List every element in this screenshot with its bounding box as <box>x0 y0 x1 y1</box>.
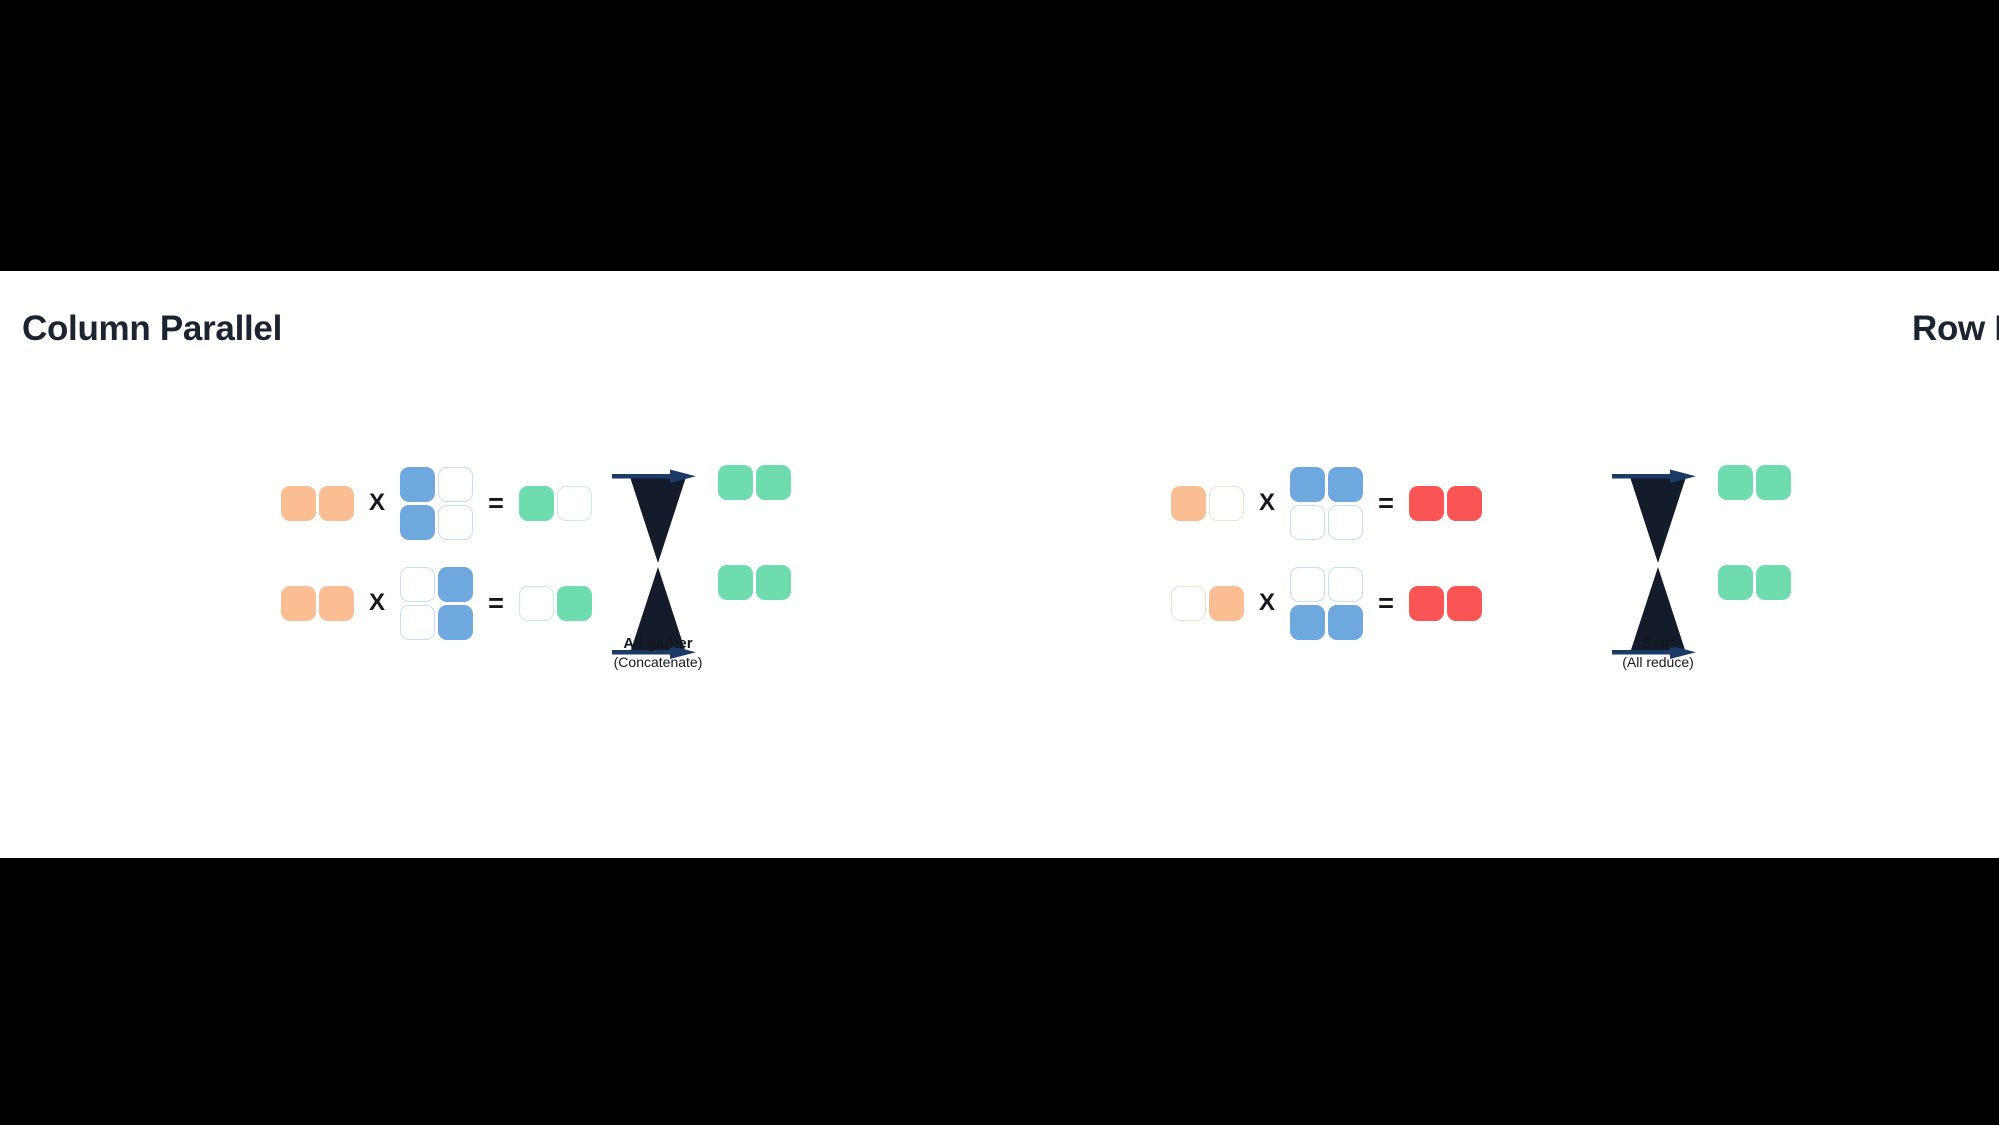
collective-op-sub: (All reduce) <box>1622 654 1694 672</box>
equation-row: X = <box>1171 465 1482 541</box>
matrix-cell <box>1409 486 1444 521</box>
matrix-cell <box>438 467 473 502</box>
result-vector-bottom <box>1718 565 1791 600</box>
result-vector-top <box>1718 465 1791 500</box>
matrix-cell <box>718 465 753 500</box>
matrix-cell <box>1328 467 1363 502</box>
letterbox-bottom-bar <box>0 858 1999 1125</box>
output-vector <box>1409 486 1482 521</box>
matrix-cell <box>1328 605 1363 640</box>
matrix-cell <box>1718 465 1753 500</box>
matrix-cell <box>1328 505 1363 540</box>
matrix-cell <box>319 486 354 521</box>
matrix-cell <box>400 505 435 540</box>
matrix-cell <box>438 605 473 640</box>
matrix-cell <box>756 465 791 500</box>
input-vector <box>281 486 354 521</box>
matrix-cell <box>1718 565 1753 600</box>
equation-row: X = <box>281 565 592 641</box>
multiply-operator: X <box>1244 586 1290 621</box>
matrix-cell <box>1756 465 1791 500</box>
collective-op-name: Sum <box>1622 635 1694 654</box>
equals-operator: = <box>473 586 519 621</box>
matrix-cell <box>281 486 316 521</box>
matrix-cell <box>557 586 592 621</box>
matrix-cell <box>557 486 592 521</box>
collective-op-allgather: All gather (Concatenate) <box>612 463 704 668</box>
matrix-cell <box>1756 565 1791 600</box>
equals-operator: = <box>1363 486 1409 521</box>
matrix-cell <box>718 565 753 600</box>
matrix-cell <box>519 586 554 621</box>
matrix-cell <box>400 567 435 602</box>
panel-row-parallel: Row Parallel X = <box>999 271 1998 858</box>
letterbox-top-bar <box>0 0 1999 271</box>
output-vector <box>519 586 592 621</box>
result-vector-bottom <box>718 565 791 600</box>
matrix-cell <box>400 467 435 502</box>
result-vector <box>718 465 791 500</box>
result-vector-top <box>718 465 791 500</box>
collective-op-label: All gather (Concatenate) <box>614 635 703 671</box>
collective-op-sub: (Concatenate) <box>614 654 703 672</box>
collective-op-name: All gather <box>614 635 703 654</box>
result-vector <box>1718 565 1791 600</box>
equals-operator: = <box>473 486 519 521</box>
output-vector <box>1409 586 1482 621</box>
collective-op-allreduce: Sum (All reduce) <box>1612 463 1704 668</box>
matrix-cell <box>438 567 473 602</box>
result-vector <box>1718 465 1791 500</box>
matrix-cell <box>1171 486 1206 521</box>
weight-matrix <box>1290 567 1363 640</box>
matrix-cell <box>1290 605 1325 640</box>
matrix-cell <box>1447 486 1482 521</box>
equals-operator: = <box>1363 586 1409 621</box>
result-vector <box>718 565 791 600</box>
panel-title-row-parallel: Row Parallel <box>1912 309 1999 349</box>
matrix-cell <box>1209 486 1244 521</box>
multiply-operator: X <box>1244 486 1290 521</box>
matrix-cell <box>400 605 435 640</box>
input-vector <box>1171 486 1244 521</box>
matrix-cell <box>756 565 791 600</box>
equation-row: X = <box>1171 565 1482 641</box>
panel-column-parallel: Column Parallel X = <box>0 271 999 858</box>
matrix-cell <box>1290 467 1325 502</box>
matrix-cell <box>319 586 354 621</box>
slide-content: Column Parallel X = <box>0 271 1999 858</box>
matrix-cell <box>1290 567 1325 602</box>
matrix-cell <box>1409 586 1444 621</box>
weight-matrix <box>1290 467 1363 540</box>
output-vector <box>519 486 592 521</box>
multiply-operator: X <box>354 486 400 521</box>
collective-op-label: Sum (All reduce) <box>1622 635 1694 671</box>
weight-matrix <box>400 467 473 540</box>
panel-title-column-parallel: Column Parallel <box>22 309 282 349</box>
matrix-cell <box>1209 586 1244 621</box>
matrix-cell <box>438 505 473 540</box>
matrix-cell <box>281 586 316 621</box>
input-vector <box>281 586 354 621</box>
multiply-operator: X <box>354 586 400 621</box>
matrix-cell <box>1447 586 1482 621</box>
input-vector <box>1171 586 1244 621</box>
matrix-cell <box>1290 505 1325 540</box>
weight-matrix <box>400 567 473 640</box>
slide-stage: Column Parallel X = <box>0 0 1999 1125</box>
equation-row: X = <box>281 465 592 541</box>
matrix-cell <box>519 486 554 521</box>
matrix-cell <box>1171 586 1206 621</box>
matrix-cell <box>1328 567 1363 602</box>
